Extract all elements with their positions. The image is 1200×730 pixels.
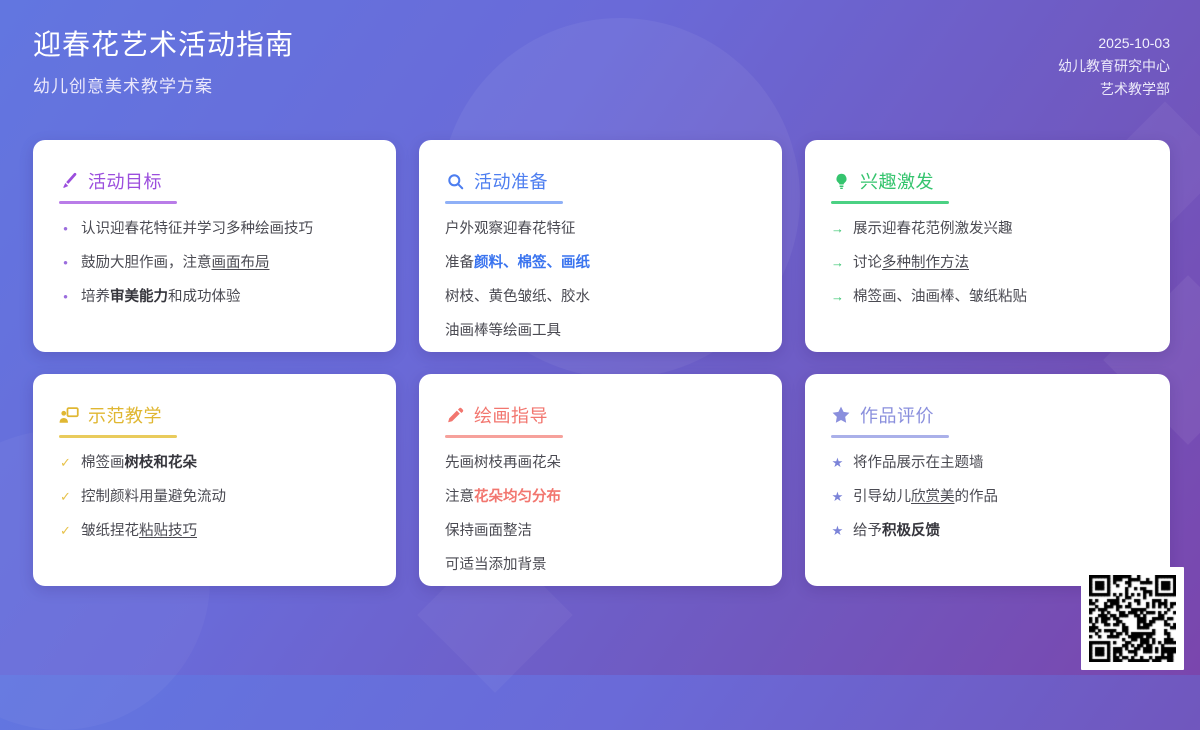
card-list-item: ✓控制颜料用量避免流动 xyxy=(59,487,370,508)
list-item-marker: ★ xyxy=(831,521,844,541)
card-item-list: •认识迎春花特征并学习多种绘画技巧•鼓励大胆作画，注意画面布局•培养审美能力和成… xyxy=(59,219,370,308)
card-title: 活动目标 xyxy=(88,168,162,194)
list-item-text: 引导幼儿欣赏美的作品 xyxy=(853,487,1144,508)
list-item-marker: → xyxy=(831,287,844,307)
list-item-text: 认识迎春花特征并学习多种绘画技巧 xyxy=(81,219,370,240)
header-department: 艺术教学部 xyxy=(1058,78,1170,101)
list-item-text: 控制颜料用量避免流动 xyxy=(81,487,370,508)
header-organization: 幼儿教育研究中心 xyxy=(1058,55,1170,78)
search-icon xyxy=(445,171,465,191)
card-list-item: 注意花朵均匀分布 xyxy=(445,487,756,508)
list-item-text: 皱纸捏花粘贴技巧 xyxy=(81,521,370,542)
card-list-item: ✓皱纸捏花粘贴技巧 xyxy=(59,521,370,542)
card-title: 活动准备 xyxy=(474,168,548,194)
list-item-text: 注意花朵均匀分布 xyxy=(445,487,756,508)
card-list-item: →棉签画、油画棒、皱纸粘贴 xyxy=(831,287,1144,308)
card-list-item: 树枝、黄色皱纸、胶水 xyxy=(445,287,756,308)
list-item-text: 展示迎春花范例激发兴趣 xyxy=(853,219,1144,240)
paintbrush-icon xyxy=(59,171,79,191)
star-icon xyxy=(831,405,851,425)
list-item-marker: → xyxy=(831,219,844,239)
card-title-underline xyxy=(445,201,563,204)
card-list-item: 户外观察迎春花特征 xyxy=(445,219,756,240)
list-item-text: 先画树枝再画花朵 xyxy=(445,453,756,474)
card-list-item: 保持画面整洁 xyxy=(445,521,756,542)
card-list-item: 准备颜料、棉签、画纸 xyxy=(445,253,756,274)
list-item-text: 培养审美能力和成功体验 xyxy=(81,287,370,308)
card-item-list: 户外观察迎春花特征准备颜料、棉签、画纸树枝、黄色皱纸、胶水油画棒等绘画工具 xyxy=(445,219,756,342)
qr-code xyxy=(1089,575,1176,662)
list-item-marker: • xyxy=(59,287,72,307)
card-title-underline xyxy=(59,435,177,438)
list-item-text: 树枝、黄色皱纸、胶水 xyxy=(445,287,756,308)
list-item-marker: ★ xyxy=(831,487,844,507)
card-item-list: ★将作品展示在主题墙★引导幼儿欣赏美的作品★给予积极反馈 xyxy=(831,453,1144,542)
card-list-item: •鼓励大胆作画，注意画面布局 xyxy=(59,253,370,274)
card-header: 活动目标 xyxy=(59,168,370,194)
page-subtitle: 幼儿创意美术教学方案 xyxy=(33,72,294,97)
list-item-text: 可适当添加背景 xyxy=(445,555,756,576)
card-item-list: →展示迎春花范例激发兴趣→讨论多种制作方法→棉签画、油画棒、皱纸粘贴 xyxy=(831,219,1144,308)
card-header: 作品评价 xyxy=(831,402,1144,428)
list-item-marker: → xyxy=(831,253,844,273)
card-title: 示范教学 xyxy=(88,402,162,428)
card-header: 兴趣激发 xyxy=(831,168,1144,194)
card-list-item: 先画树枝再画花朵 xyxy=(445,453,756,474)
card-review: 作品评价★将作品展示在主题墙★引导幼儿欣赏美的作品★给予积极反馈 xyxy=(805,374,1170,586)
header-meta-block: 2025-10-03 幼儿教育研究中心 艺术教学部 xyxy=(1058,32,1170,100)
list-item-text: 准备颜料、棉签、画纸 xyxy=(445,253,756,274)
card-title-underline xyxy=(59,201,177,204)
card-item-list: 先画树枝再画花朵注意花朵均匀分布保持画面整洁可适当添加背景 xyxy=(445,453,756,576)
card-list-item: →展示迎春花范例激发兴趣 xyxy=(831,219,1144,240)
card-header: 绘画指导 xyxy=(445,402,756,428)
card-title: 作品评价 xyxy=(860,402,934,428)
list-item-text: 户外观察迎春花特征 xyxy=(445,219,756,240)
card-list-item: •认识迎春花特征并学习多种绘画技巧 xyxy=(59,219,370,240)
header-date: 2025-10-03 xyxy=(1058,32,1170,55)
list-item-text: 给予积极反馈 xyxy=(853,521,1144,542)
card-list-item: ★将作品展示在主题墙 xyxy=(831,453,1144,474)
card-title: 绘画指导 xyxy=(474,402,548,428)
qr-code-container[interactable] xyxy=(1081,567,1184,670)
card-list-item: ★给予积极反馈 xyxy=(831,521,1144,542)
card-list-item: 油画棒等绘画工具 xyxy=(445,321,756,342)
lightbulb-icon xyxy=(831,171,851,191)
card-list-item: →讨论多种制作方法 xyxy=(831,253,1144,274)
card-title-underline xyxy=(831,201,949,204)
list-item-text: 鼓励大胆作画，注意画面布局 xyxy=(81,253,370,274)
card-header: 活动准备 xyxy=(445,168,756,194)
list-item-text: 将作品展示在主题墙 xyxy=(853,453,1144,474)
list-item-text: 油画棒等绘画工具 xyxy=(445,321,756,342)
pencil-icon xyxy=(445,405,465,425)
list-item-text: 棉签画树枝和花朵 xyxy=(81,453,370,474)
card-prep: 活动准备户外观察迎春花特征准备颜料、棉签、画纸树枝、黄色皱纸、胶水油画棒等绘画工… xyxy=(419,140,782,352)
list-item-marker: • xyxy=(59,219,72,239)
card-interest: 兴趣激发→展示迎春花范例激发兴趣→讨论多种制作方法→棉签画、油画棒、皱纸粘贴 xyxy=(805,140,1170,352)
list-item-text: 讨论多种制作方法 xyxy=(853,253,1144,274)
list-item-marker: ★ xyxy=(831,453,844,473)
presentation-person-icon xyxy=(59,405,79,425)
list-item-marker: ✓ xyxy=(59,521,72,541)
page-header: 迎春花艺术活动指南 幼儿创意美术教学方案 2025-10-03 幼儿教育研究中心… xyxy=(0,0,1200,130)
card-title-underline xyxy=(831,435,949,438)
card-grid: 活动目标•认识迎春花特征并学习多种绘画技巧•鼓励大胆作画，注意画面布局•培养审美… xyxy=(33,140,1170,586)
header-title-block: 迎春花艺术活动指南 幼儿创意美术教学方案 xyxy=(33,26,294,97)
list-item-marker: • xyxy=(59,253,72,273)
card-title-underline xyxy=(445,435,563,438)
card-header: 示范教学 xyxy=(59,402,370,428)
list-item-text: 棉签画、油画棒、皱纸粘贴 xyxy=(853,287,1144,308)
card-demo: 示范教学✓棉签画树枝和花朵✓控制颜料用量避免流动✓皱纸捏花粘贴技巧 xyxy=(33,374,396,586)
list-item-text: 保持画面整洁 xyxy=(445,521,756,542)
card-guide: 绘画指导先画树枝再画花朵注意花朵均匀分布保持画面整洁可适当添加背景 xyxy=(419,374,782,586)
card-title: 兴趣激发 xyxy=(860,168,934,194)
card-list-item: •培养审美能力和成功体验 xyxy=(59,287,370,308)
page-title: 迎春花艺术活动指南 xyxy=(33,26,294,64)
card-list-item: ★引导幼儿欣赏美的作品 xyxy=(831,487,1144,508)
list-item-marker: ✓ xyxy=(59,453,72,473)
card-list-item: 可适当添加背景 xyxy=(445,555,756,576)
card-list-item: ✓棉签画树枝和花朵 xyxy=(59,453,370,474)
card-goal: 活动目标•认识迎春花特征并学习多种绘画技巧•鼓励大胆作画，注意画面布局•培养审美… xyxy=(33,140,396,352)
card-item-list: ✓棉签画树枝和花朵✓控制颜料用量避免流动✓皱纸捏花粘贴技巧 xyxy=(59,453,370,542)
list-item-marker: ✓ xyxy=(59,487,72,507)
